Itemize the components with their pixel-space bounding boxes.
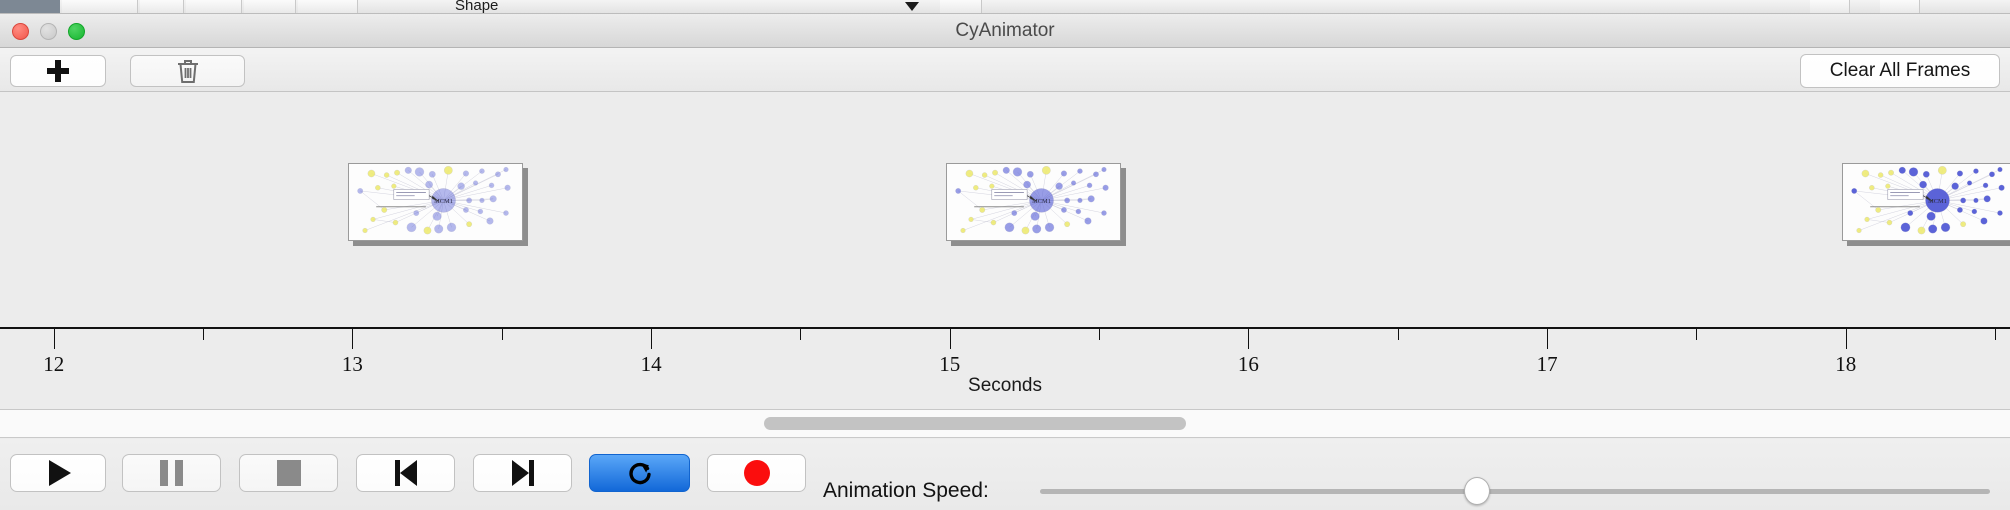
delete-frame-button[interactable]	[130, 55, 245, 87]
record-icon	[744, 460, 770, 486]
record-button[interactable]	[707, 454, 806, 492]
background-window-titlebar	[0, 0, 60, 13]
ruler-tick-major	[1248, 329, 1249, 349]
ruler-tick-minor	[1696, 329, 1697, 340]
keyframe-thumbnail[interactable]: MCM1	[946, 163, 1121, 241]
window-title: CyAnimator	[0, 14, 2010, 48]
skip-next-icon	[512, 460, 534, 486]
ruler-tick-label: 16	[1238, 352, 1259, 377]
timeline-ruler	[0, 327, 2010, 329]
ruler-tick-minor	[1995, 329, 1996, 340]
ruler-tick-minor	[1398, 329, 1399, 340]
ruler-tick-minor	[502, 329, 503, 340]
play-button[interactable]	[10, 454, 106, 492]
background-window-strip: Shape	[0, 0, 2010, 14]
ruler-tick-major	[1846, 329, 1847, 349]
keyframe-thumbnail[interactable]: MCM1	[348, 163, 523, 241]
ruler-tick-minor	[1099, 329, 1100, 340]
play-icon	[49, 460, 71, 486]
ruler-tick-major	[1547, 329, 1548, 349]
ruler-tick-minor	[800, 329, 801, 340]
keyframe-image: MCM1	[946, 163, 1121, 241]
animation-speed-slider[interactable]	[1040, 477, 1990, 505]
stop-icon	[277, 460, 301, 486]
background-window-label: Shape	[455, 0, 498, 14]
ruler-tick-label: 15	[939, 352, 960, 377]
plus-icon	[47, 60, 69, 82]
scrollbar-track[interactable]	[0, 410, 2010, 437]
ruler-tick-minor	[203, 329, 204, 340]
loop-icon	[626, 459, 654, 487]
ruler-tick-label: 13	[342, 352, 363, 377]
loop-button[interactable]	[589, 454, 690, 492]
ruler-tick-label: 12	[43, 352, 64, 377]
ruler-tick-major	[651, 329, 652, 349]
ruler-tick-major	[54, 329, 55, 349]
pause-button[interactable]	[122, 454, 221, 492]
add-frame-button[interactable]	[10, 55, 106, 87]
animation-speed-label: Animation Speed:	[823, 479, 989, 503]
title-bar: CyAnimator	[0, 14, 2010, 48]
svg-text:MCM1: MCM1	[1928, 198, 1947, 205]
ruler-tick-major	[950, 329, 951, 349]
stop-button[interactable]	[239, 454, 338, 492]
keyframe-thumbnail[interactable]: MCM1	[1842, 163, 2010, 241]
ruler-tick-major	[352, 329, 353, 349]
ruler-tick-label: 17	[1537, 352, 1558, 377]
ruler-tick-label: 18	[1835, 352, 1856, 377]
svg-text:MCM1: MCM1	[1032, 198, 1051, 205]
clear-all-frames-label: Clear All Frames	[1830, 60, 1970, 82]
slider-track[interactable]	[1040, 489, 1990, 494]
previous-frame-button[interactable]	[356, 454, 455, 492]
keyframe-image: MCM1	[348, 163, 523, 241]
timeline-panel[interactable]: MCM1 MCM1 MCM1 12131415161718 Secon	[0, 93, 2010, 410]
ruler-tick-label: 14	[641, 352, 662, 377]
scrollbar-thumb[interactable]	[764, 417, 1186, 430]
skip-previous-icon	[395, 460, 417, 486]
transport-bar: Animation Speed:	[0, 439, 2010, 510]
svg-text:MCM1: MCM1	[435, 198, 454, 205]
pause-icon	[160, 460, 183, 486]
cyanimator-window: Shape CyAnimator Clear All Frames	[0, 0, 2010, 510]
horizontal-scrollbar[interactable]	[0, 410, 2010, 438]
trash-icon	[175, 57, 201, 85]
slider-thumb[interactable]	[1464, 477, 1490, 505]
toolbar: Clear All Frames	[0, 48, 2010, 92]
clear-all-frames-button[interactable]: Clear All Frames	[1800, 54, 2000, 88]
next-frame-button[interactable]	[473, 454, 572, 492]
axis-title: Seconds	[0, 375, 2010, 397]
keyframe-image: MCM1	[1842, 163, 2010, 241]
